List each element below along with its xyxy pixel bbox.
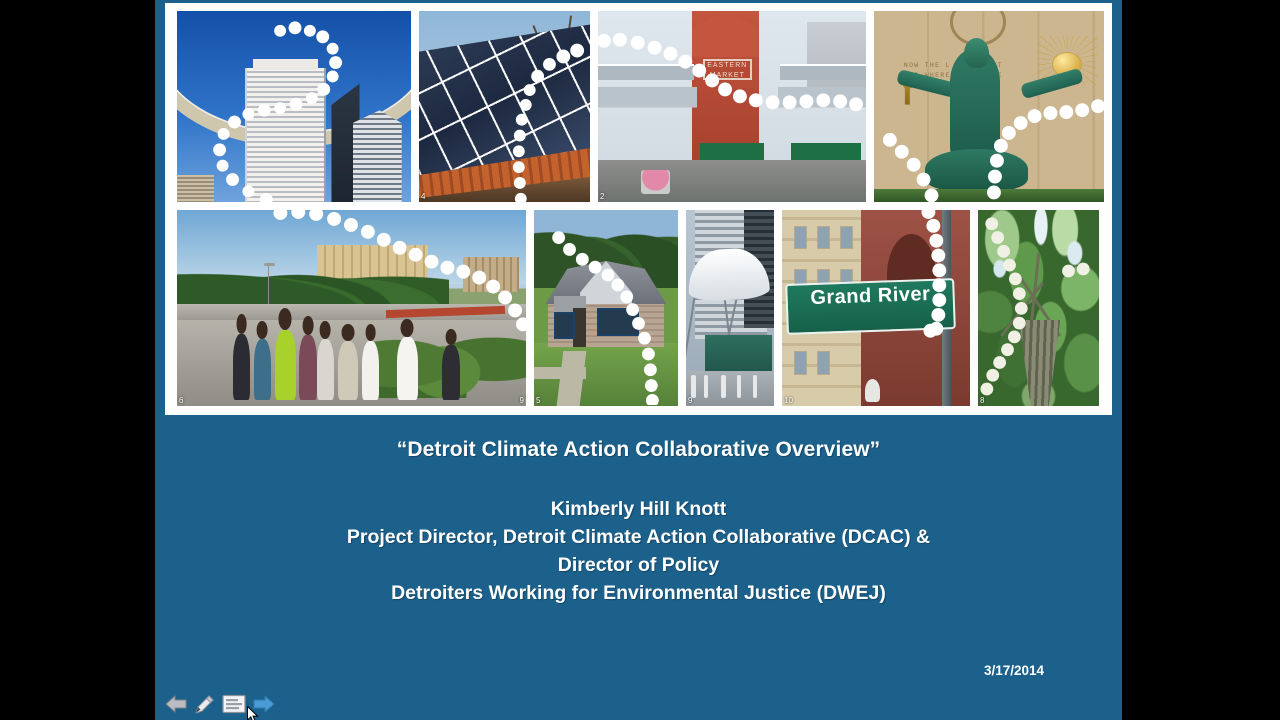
photo-residential-house: 5 [533, 209, 679, 407]
player-toolbar [165, 690, 275, 718]
previous-slide-button[interactable] [165, 693, 187, 715]
screen: 4 EASTERN MARKET [0, 0, 1280, 720]
photo-number-label: 8 [980, 396, 984, 405]
presenter-organization: Detroiters Working for Environmental Jus… [155, 579, 1122, 607]
slide-text-area: “Detroit Climate Action Collaborative Ov… [155, 420, 1122, 720]
presenter-role-line-1: Project Director, Detroit Climate Action… [155, 523, 1122, 551]
presenter-info: Kimberly Hill Knott Project Director, De… [155, 495, 1122, 607]
presenter-role-line-2: Director of Policy [155, 551, 1122, 579]
next-slide-button[interactable] [253, 693, 275, 715]
photo-canopy-sculpture: 9 [685, 209, 775, 407]
presentation-slide: 4 EASTERN MARKET [155, 0, 1122, 720]
photo-number-label: 9 [688, 396, 692, 405]
pen-tool-button[interactable] [193, 693, 215, 715]
photo-number-label: 2 [600, 192, 604, 201]
photo-collage-panel: 4 EASTERN MARKET [165, 3, 1112, 415]
notes-icon [221, 694, 247, 714]
photo-solar-panels: 4 [418, 10, 591, 203]
photo-rooftop-garden-tour: 6 9 [176, 209, 527, 407]
photo-row-top: 4 EASTERN MARKET [176, 10, 1105, 203]
photo-row-bottom: 6 9 [176, 209, 1105, 407]
photo-number-label: 6 [179, 396, 183, 405]
eastern-market-sign-text: EASTERN MARKET [703, 59, 753, 80]
page-title: “Detroit Climate Action Collaborative Ov… [155, 438, 1122, 462]
slide-notes-button[interactable] [221, 693, 247, 715]
forward-arrow-icon [253, 695, 275, 713]
photo-eastern-market: EASTERN MARKET [597, 10, 867, 203]
pen-icon [193, 694, 215, 714]
photo-number-label: 5 [536, 396, 540, 405]
photo-number-label-right: 9 [520, 396, 524, 405]
photo-grand-river-sign: Grand River 10 [781, 209, 971, 407]
photo-detroit-skyline-arch [176, 10, 412, 203]
photo-number-label: 10 [784, 396, 793, 405]
grand-river-sign-text: Grand River [785, 278, 956, 335]
back-arrow-icon [165, 695, 187, 713]
photo-number-label: 4 [421, 192, 425, 201]
slide-date: 3/17/2014 [984, 663, 1044, 678]
photo-spirit-of-detroit: MICHIGAN NOW THE L AT SPIRIT AND WHERE I… [873, 10, 1105, 203]
presenter-name: Kimberly Hill Knott [155, 495, 1122, 523]
photo-tree-canopy: 8 [977, 209, 1100, 407]
